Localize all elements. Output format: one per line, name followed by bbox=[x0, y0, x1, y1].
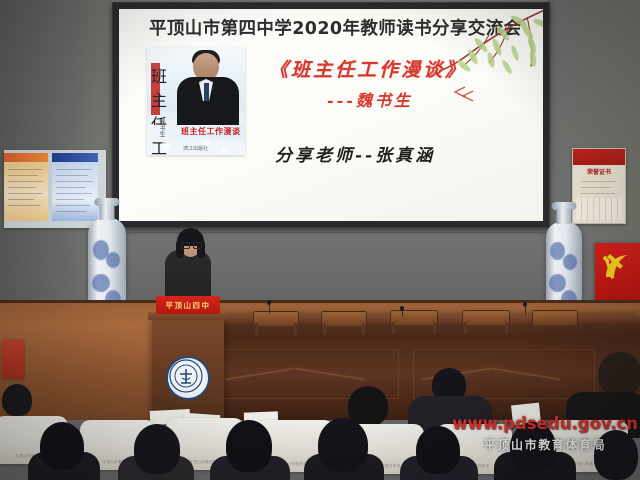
wall-poster-blue bbox=[52, 153, 98, 221]
bokeh-dot bbox=[161, 141, 170, 150]
projection-screen: 平顶山市第四中学2020年教师读书分享交流会 bbox=[112, 2, 550, 228]
stage-chair bbox=[321, 311, 367, 327]
audience-head bbox=[134, 424, 180, 474]
stage-floor-edge bbox=[0, 300, 640, 303]
bokeh-dot bbox=[221, 147, 228, 154]
book-cover-publisher: 漓江出版社 bbox=[183, 145, 208, 152]
slide-presenter: 分享老师--张真涵 bbox=[275, 141, 543, 166]
certificate-title: 荣誉证书 bbox=[573, 167, 625, 176]
audience-head bbox=[2, 384, 32, 416]
audience-head bbox=[226, 420, 272, 472]
vase-neck bbox=[557, 208, 572, 224]
certificate-grid bbox=[576, 198, 622, 220]
poster-header bbox=[4, 153, 48, 162]
book-cover-image: 班主任工作漫谈 班主任工作漫谈 魏书生 漓江出版社 bbox=[147, 47, 245, 155]
audience-head bbox=[510, 422, 556, 472]
audience-head bbox=[318, 418, 368, 472]
certificate-header bbox=[573, 149, 625, 165]
audience-head bbox=[594, 430, 638, 480]
poster-header bbox=[52, 153, 98, 162]
book-cover-title: 班主任工作漫谈 bbox=[181, 126, 241, 137]
slide-book-title: 《班主任工作漫谈》 bbox=[269, 55, 543, 82]
audience-head bbox=[40, 422, 84, 470]
audience-head bbox=[598, 352, 640, 396]
audience-head bbox=[416, 426, 460, 474]
book-cover-author: 魏书生 bbox=[157, 119, 166, 137]
fire-equipment-box bbox=[2, 340, 24, 378]
stage-chair bbox=[462, 310, 510, 326]
slide-title: 平顶山市第四中学2020年教师读书分享交流会 bbox=[149, 15, 519, 40]
speaker-glasses-icon bbox=[181, 242, 200, 247]
slide-text-block: 《班主任工作漫谈》 ---魏书生 分享老师--张真涵 bbox=[269, 55, 543, 166]
speaker-podium: 平顶山四中 bbox=[152, 318, 224, 418]
conference-photo: 平顶山市第四中学2020年教师读书分享交流会 bbox=[0, 0, 640, 480]
stage-chair bbox=[532, 310, 578, 326]
stage-chair bbox=[390, 310, 438, 326]
slide-author: ---魏书生 bbox=[327, 87, 543, 111]
book-spine-title: 班主任工作漫谈 bbox=[151, 63, 160, 115]
wall-poster-orange bbox=[4, 153, 48, 221]
school-logo-icon bbox=[166, 356, 210, 400]
stage-chair bbox=[253, 311, 299, 327]
wall-certificate: 荣誉证书 bbox=[572, 148, 626, 224]
podium-banner: 平顶山四中 bbox=[156, 296, 220, 314]
book-cover-portrait-tie bbox=[204, 83, 209, 101]
slide-surface: 平顶山市第四中学2020年教师读书分享交流会 bbox=[119, 9, 543, 221]
vase-neck bbox=[100, 204, 115, 220]
hammer-sickle-icon bbox=[601, 252, 633, 282]
